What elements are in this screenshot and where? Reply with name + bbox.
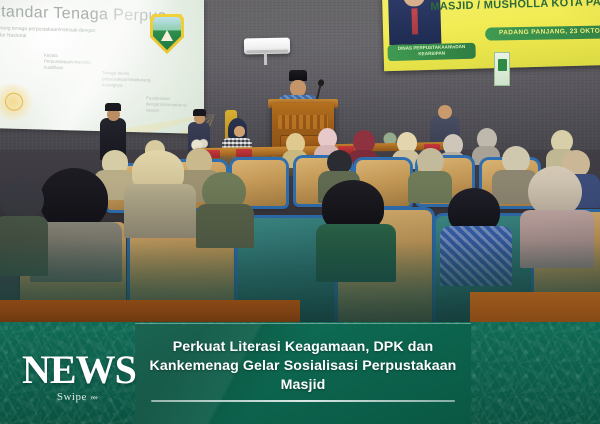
headline-text: Perkuat Literasi Keagamaan, DPK dan Kank… <box>145 338 461 395</box>
banner-date-bar: PADANG PANJANG, 23 OKTOBER 2 <box>485 25 600 41</box>
headline-divider <box>151 400 455 402</box>
audience-person-foreground <box>520 166 590 258</box>
body <box>0 216 48 276</box>
banner-organizer: DINAS PERPUSTAKAAN\nDAN KEARSIPAN <box>387 44 475 58</box>
wood-trim-right <box>470 292 600 326</box>
air-conditioner-icon <box>244 38 290 55</box>
banner-date: PADANG PANJANG, 23 OKTOBER 2 <box>485 27 600 37</box>
event-photo: Standar Tenaga Perpus a 4. orang tenaga … <box>0 0 600 326</box>
face <box>234 126 245 137</box>
banner-name-bar: DINAS PERPUSTAKAAN\nDAN KEARSIPAN <box>387 43 475 61</box>
body <box>316 224 396 282</box>
snack-box <box>236 149 252 157</box>
body <box>124 184 196 238</box>
news-logo: NEWS Swipe »» <box>22 350 132 403</box>
news-post-card: Standar Tenaga Perpus a 4. orang tenaga … <box>0 0 600 424</box>
audience-person-foreground <box>316 180 394 274</box>
headline-card: Perkuat Literasi Keagamaan, DPK dan Kank… <box>135 324 471 424</box>
head <box>40 168 108 230</box>
ac-pipe <box>264 53 267 65</box>
batik-shirt <box>440 226 512 286</box>
body <box>520 210 594 268</box>
audience-person-foreground <box>0 178 48 268</box>
swipe-hint[interactable]: Swipe »» <box>22 391 132 403</box>
audience-person-foreground <box>440 188 508 278</box>
banner-line-2: MASJID / MUSHOLLA KOTA PA <box>430 0 600 13</box>
body <box>196 204 254 248</box>
podium-carving <box>278 115 328 129</box>
wood-trim-left <box>0 300 300 324</box>
event-backdrop-banner: PENGU MASJID / MUSHOLLA KOTA PA PADANG P… <box>382 0 600 71</box>
swipe-chevron-icon: »» <box>90 392 97 402</box>
audience-person-foreground <box>196 172 252 238</box>
audience-person-foreground <box>124 150 194 230</box>
wall-sign-icon <box>494 52 510 86</box>
news-wordmark: NEWS <box>22 350 132 390</box>
swipe-label: Swipe <box>57 391 87 403</box>
